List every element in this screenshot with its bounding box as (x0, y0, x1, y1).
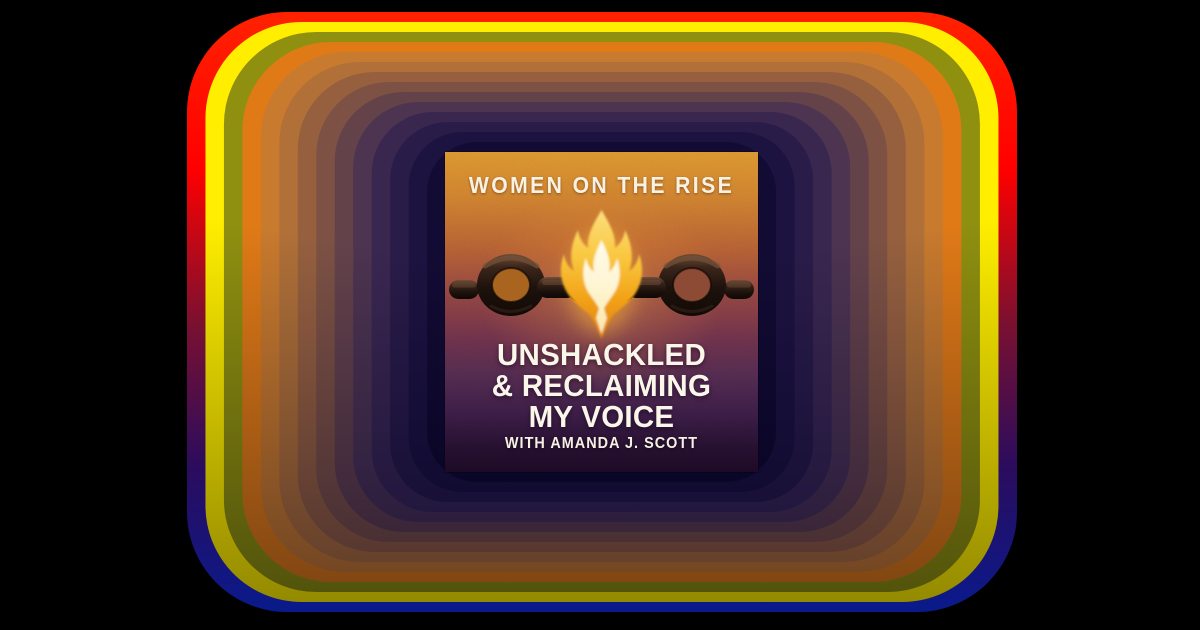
episode-title-line-2: & RECLAIMING (453, 370, 750, 401)
episode-title: UNSHACKLED & RECLAIMING MY VOICE (453, 339, 750, 432)
show-title: WOMEN ON THE RISE (458, 172, 746, 199)
episode-title-line-3: MY VOICE (453, 401, 750, 432)
podcast-cover-art[interactable]: WOMEN ON THE RISE (445, 152, 758, 472)
host-credit: WITH AMANDA J. SCOTT (456, 435, 747, 453)
broken-chain-with-flame-icon (445, 204, 758, 349)
screenshot-canvas: WOMEN ON THE RISE (0, 0, 1200, 630)
episode-title-line-1: UNSHACKLED (453, 339, 750, 370)
